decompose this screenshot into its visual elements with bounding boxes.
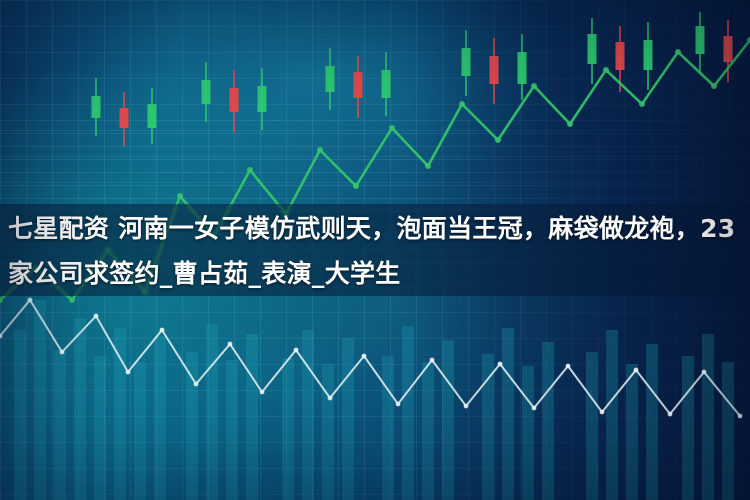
series-point	[260, 390, 265, 395]
series-point	[566, 364, 571, 369]
candle-body	[120, 108, 129, 128]
candle-body	[588, 34, 597, 64]
candlesticks-group	[92, 12, 733, 146]
volume-bar	[442, 340, 454, 500]
series-point	[160, 328, 165, 333]
volume-bar	[134, 362, 146, 500]
volume-bar	[482, 354, 494, 500]
series-point	[247, 167, 253, 173]
volume-bar	[114, 328, 126, 500]
volume-bar	[586, 352, 598, 500]
series-point	[94, 314, 99, 319]
volume-bar	[626, 364, 638, 500]
candle-body	[202, 80, 211, 104]
volume-bar	[402, 326, 414, 500]
volume-bar	[342, 338, 354, 500]
volume-bar	[422, 362, 434, 500]
series-point	[675, 49, 681, 55]
series-point	[738, 414, 743, 419]
series-point	[194, 382, 199, 387]
series-point	[634, 368, 639, 373]
volume-bar	[74, 318, 86, 500]
volume-bar	[282, 358, 294, 500]
volume-bar	[722, 362, 734, 500]
volume-bar	[14, 330, 26, 500]
candle-body	[230, 88, 239, 112]
volume-bar	[206, 324, 218, 500]
series-point	[459, 101, 465, 107]
series-point	[668, 412, 673, 417]
volume-bar	[34, 300, 46, 500]
series-point	[126, 370, 131, 375]
series-point	[294, 348, 299, 353]
series-point	[389, 125, 395, 131]
series-point	[711, 83, 717, 89]
volume-bar	[382, 356, 394, 500]
volume-bar	[154, 336, 166, 500]
volume-bar	[682, 356, 694, 500]
series-point	[362, 354, 367, 359]
series-point	[464, 404, 469, 409]
series-point	[425, 163, 431, 169]
candle-body	[644, 40, 653, 70]
series-point	[228, 342, 233, 347]
series-point	[430, 358, 435, 363]
volume-bar	[646, 344, 658, 500]
volume-bar	[186, 352, 198, 500]
candle-body	[696, 26, 705, 54]
volume-bar	[302, 330, 314, 500]
volume-bar	[542, 342, 554, 500]
candle-body	[92, 96, 101, 118]
series-point	[498, 362, 503, 367]
candle-body	[490, 56, 499, 84]
volume-bar	[54, 350, 66, 500]
page-title: 七星配资 河南一女子模仿武则天，泡面当王冠，麻袋做龙袍，23家公司求签约_曹占茹…	[0, 206, 750, 296]
candle-body	[616, 42, 625, 70]
series-point	[28, 298, 33, 303]
series-point	[639, 101, 645, 107]
candle-body	[354, 72, 363, 98]
candle-body	[258, 86, 267, 112]
volume-bar	[246, 334, 258, 500]
candle-body	[382, 70, 391, 98]
screenshot-root: 七星配资 河南一女子模仿武则天，泡面当王冠，麻袋做龙袍，23家公司求签约_曹占茹…	[0, 0, 750, 500]
series-point	[600, 410, 605, 415]
series-point	[702, 370, 707, 375]
volume-bar	[322, 364, 334, 500]
series-point	[60, 350, 65, 355]
volume-bar	[226, 360, 238, 500]
volume-bar	[522, 366, 534, 500]
volume-bar	[606, 330, 618, 500]
series-point	[328, 396, 333, 401]
series-point	[532, 406, 537, 411]
series-point	[495, 137, 501, 143]
series-point	[603, 67, 609, 73]
candle-body	[724, 36, 733, 62]
candle-body	[462, 48, 471, 76]
series-point	[396, 402, 401, 407]
series-point	[177, 193, 183, 199]
series-point	[317, 147, 323, 153]
series-point	[567, 121, 573, 127]
series-point	[531, 83, 537, 89]
candle-body	[326, 66, 335, 92]
volume-bar	[502, 328, 514, 500]
series-point	[353, 183, 359, 189]
series-point	[69, 297, 75, 303]
candle-body	[148, 104, 157, 128]
volume-bar	[702, 334, 714, 500]
candle-body	[518, 52, 527, 84]
volume-bar	[94, 356, 106, 500]
volume-bars-group	[14, 300, 734, 500]
